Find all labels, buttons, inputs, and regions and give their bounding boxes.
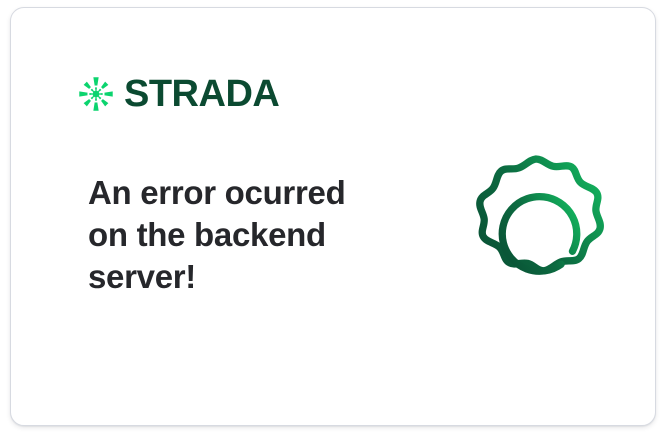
strada-starburst-icon (77, 75, 115, 113)
gear-icon (455, 146, 617, 308)
error-card: STRADA An error ocurred on the backend s… (10, 7, 656, 426)
brand-name: STRADA (124, 75, 279, 113)
brand-logo: STRADA (77, 70, 279, 118)
error-message: An error ocurred on the backend server! (88, 172, 378, 298)
screen: STRADA An error ocurred on the backend s… (0, 0, 666, 436)
